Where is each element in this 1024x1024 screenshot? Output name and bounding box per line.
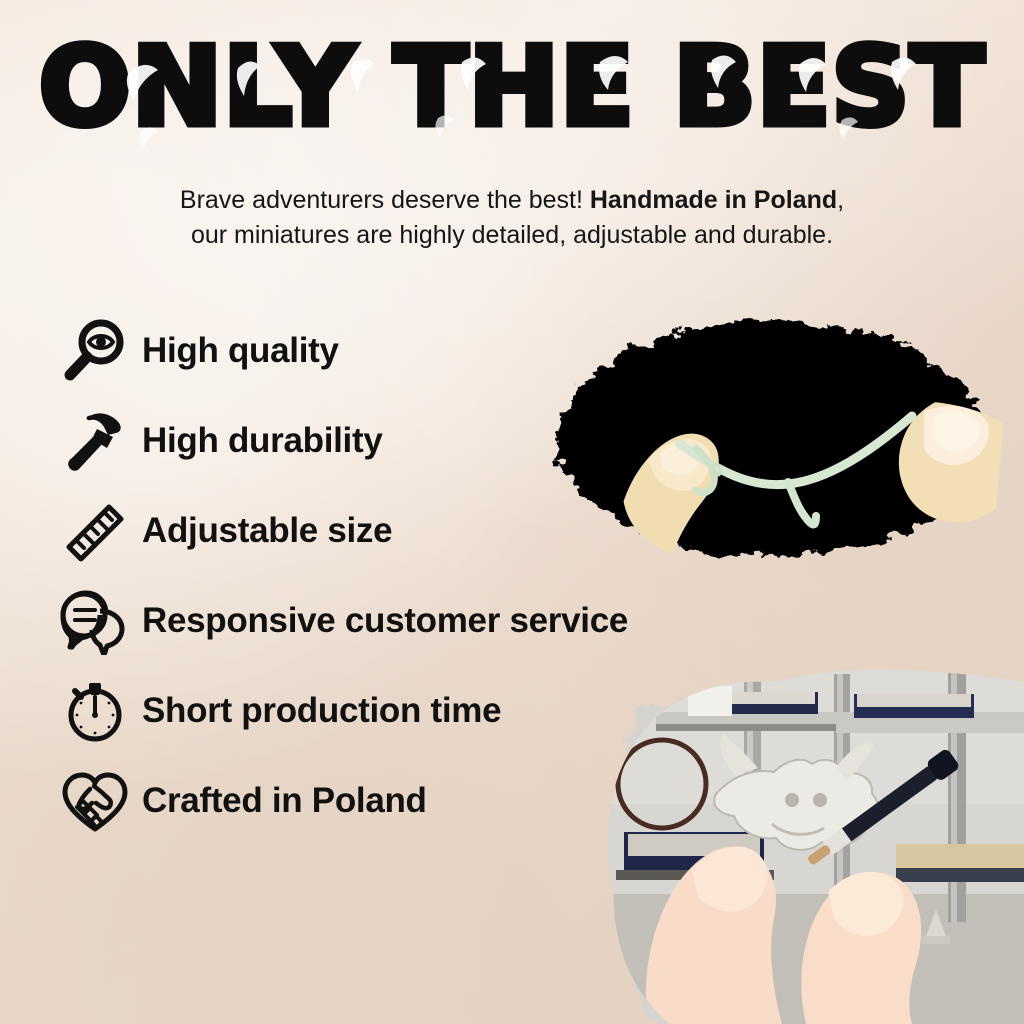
subtitle-prefix: Brave adventurers deserve the best! xyxy=(180,186,590,214)
poster-canvas: ONLY THE BEST Brave adventurers deserve … xyxy=(0,0,1024,1024)
magnifier-eye-icon xyxy=(56,315,134,387)
feature-list: High quality High durability xyxy=(56,306,776,846)
speech-bubbles-icon xyxy=(56,585,134,657)
feature-label: Responsive customer service xyxy=(142,601,628,641)
feature-item-adjustable-size: Adjustable size xyxy=(56,486,776,576)
feature-label: Short production time xyxy=(142,691,501,731)
feature-item-crafted-in-poland: Crafted in Poland xyxy=(56,756,776,846)
stopwatch-icon xyxy=(56,675,134,747)
feature-item-high-quality: High quality xyxy=(56,306,776,396)
subtitle-line-1: Brave adventurers deserve the best! Hand… xyxy=(0,183,1024,218)
feature-label: High quality xyxy=(142,331,339,371)
subtitle-bold: Handmade in Poland xyxy=(590,186,837,214)
handshake-heart-icon xyxy=(56,765,134,837)
feature-label: Crafted in Poland xyxy=(142,781,427,821)
feature-item-production-time: Short production time xyxy=(56,666,776,756)
feature-item-high-durability: High durability xyxy=(56,396,776,486)
subtitle-line-2: our miniatures are highly detailed, adju… xyxy=(0,218,1024,253)
ruler-icon xyxy=(56,495,134,567)
subtitle: Brave adventurers deserve the best! Hand… xyxy=(0,183,1024,252)
feature-item-customer-service: Responsive customer service xyxy=(56,576,776,666)
page-title: ONLY THE BEST xyxy=(0,34,1024,142)
feature-label: Adjustable size xyxy=(142,511,392,551)
subtitle-suffix: , xyxy=(837,186,844,214)
page-title-text: ONLY THE BEST xyxy=(39,25,985,150)
hammer-icon xyxy=(56,405,134,477)
feature-label: High durability xyxy=(142,421,383,461)
